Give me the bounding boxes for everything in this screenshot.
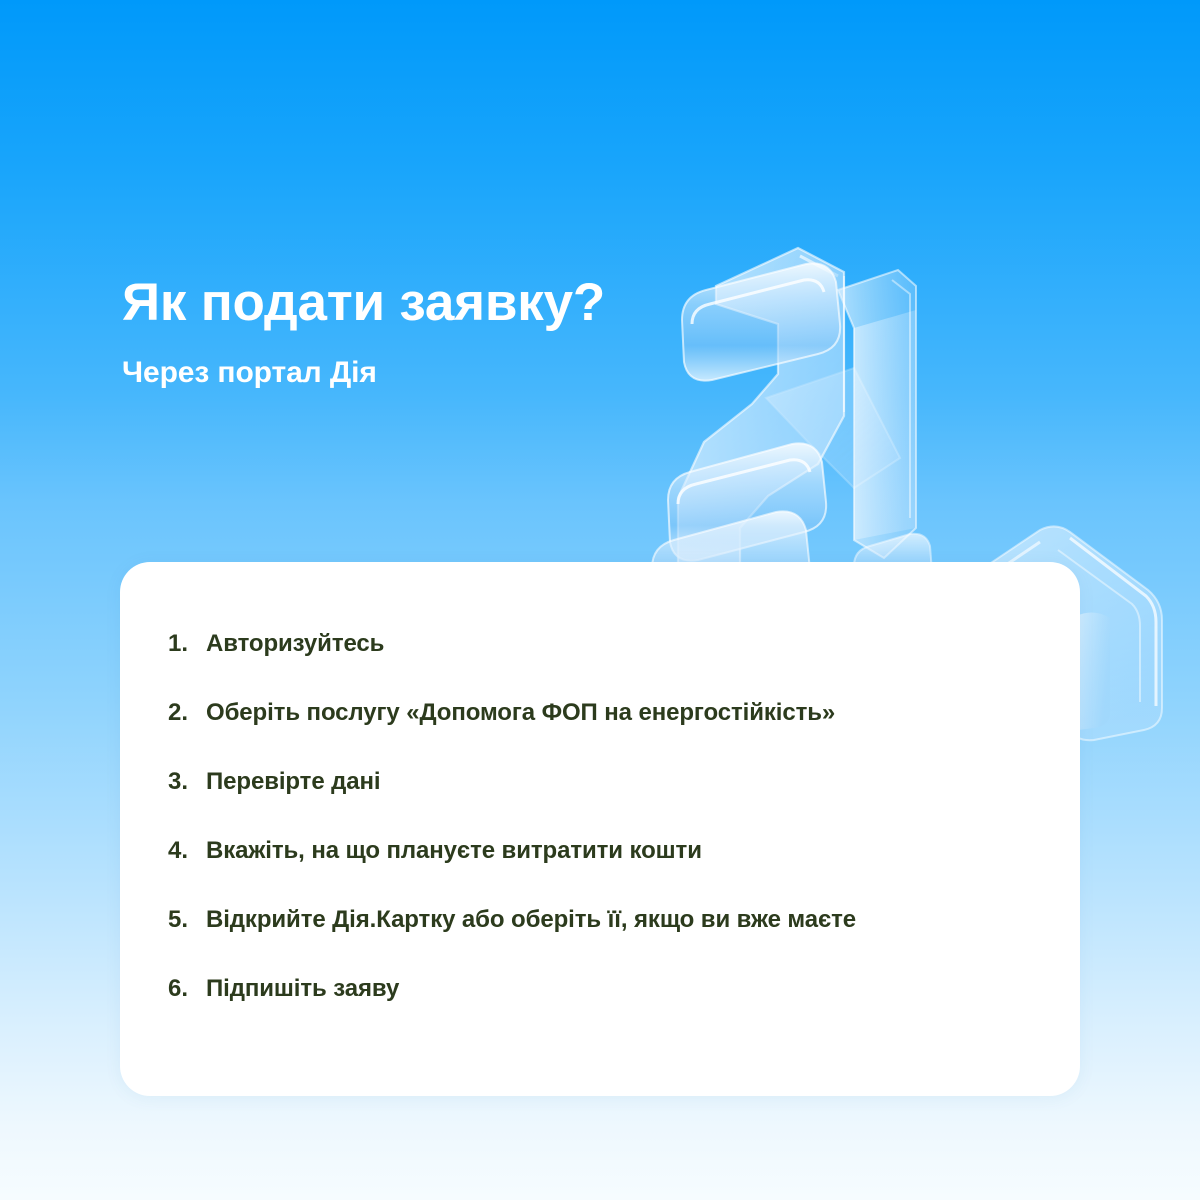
list-item: 5. Відкрийте Дія.Картку або оберіть її, … <box>168 902 1020 938</box>
list-item: 2. Оберіть послугу «Допомога ФОП на енер… <box>168 695 1020 731</box>
step-text: Відкрийте Дія.Картку або оберіть її, якщ… <box>206 902 1020 938</box>
steps-list: 1. Авторизуйтесь 2. Оберіть послугу «Доп… <box>168 626 1020 1007</box>
list-item: 1. Авторизуйтесь <box>168 626 1020 662</box>
step-text: Підпишіть заяву <box>206 971 1020 1007</box>
list-item: 4. Вкажіть, на що плануєте витратити кош… <box>168 833 1020 869</box>
step-number: 4. <box>168 833 206 869</box>
steps-card: 1. Авторизуйтесь 2. Оберіть послугу «Доп… <box>120 562 1080 1096</box>
step-number: 2. <box>168 695 206 731</box>
page-title: Як подати заявку? <box>122 272 822 334</box>
step-text: Оберіть послугу «Допомога ФОП на енергос… <box>206 695 1020 731</box>
list-item: 6. Підпишіть заяву <box>168 971 1020 1007</box>
poster-root: Як подати заявку? Через портал Дія 1. Ав… <box>0 0 1200 1200</box>
step-number: 3. <box>168 764 206 800</box>
step-number: 6. <box>168 971 206 1007</box>
step-number: 1. <box>168 626 206 662</box>
list-item: 3. Перевірте дані <box>168 764 1020 800</box>
step-number: 5. <box>168 902 206 938</box>
header-block: Як подати заявку? Через портал Дія <box>122 272 822 392</box>
step-text: Вкажіть, на що плануєте витратити кошти <box>206 833 1020 869</box>
step-text: Перевірте дані <box>206 764 1020 800</box>
page-subtitle: Через портал Дія <box>122 354 822 392</box>
step-text: Авторизуйтесь <box>206 626 1020 662</box>
